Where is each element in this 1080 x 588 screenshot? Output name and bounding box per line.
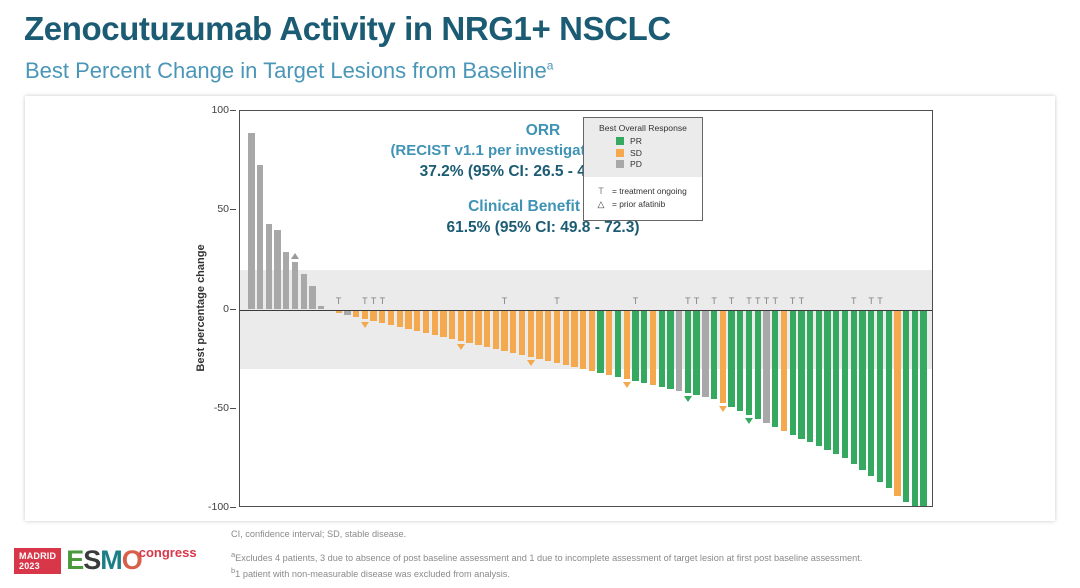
logo-congress-text: congress [139,545,197,560]
logo-letter-e: E [66,547,83,574]
legend-note-label: = prior afatinib [612,199,665,209]
prior-afatinib-marker [745,418,753,424]
waterfall-bar [790,310,796,435]
prior-afatinib-marker [684,396,692,402]
waterfall-bar [397,310,403,328]
waterfall-bar [423,310,429,334]
y-axis-tick: 0 [223,303,229,315]
legend-title: Best Overall Response [590,123,696,133]
waterfall-bar [746,310,752,415]
legend-response-group: Best Overall Response PRSDPD [584,118,702,177]
waterfall-bar [711,310,717,399]
legend-notes: T= treatment ongoing△= prior afatinib [584,177,702,220]
waterfall-bar [763,310,769,423]
legend-swatch [616,160,624,168]
waterfall-bar [728,310,734,407]
waterfall-bar [388,310,394,326]
waterfall-bar [545,310,551,362]
waterfall-bar [528,310,534,358]
legend-item-label: PR [630,136,642,146]
waterfall-bar [484,310,490,348]
waterfall-bar [632,310,638,381]
chart-card: 100500-50-100 Best percentage change TTT… [25,96,1055,521]
footnote-a-text: Excludes 4 patients, 3 due to absence of… [235,553,862,563]
waterfall-bar [851,310,857,465]
waterfall-bar [493,310,499,350]
prior-afatinib-marker [361,322,369,328]
legend-note-label: = treatment ongoing [612,186,687,196]
treatment-ongoing-marker: T [711,297,717,306]
legend-items: PRSDPD [590,136,696,169]
waterfall-bar [868,310,874,477]
waterfall-bar [405,310,411,330]
treatment-ongoing-marker: T [869,297,875,306]
prior-afatinib-marker [457,344,465,350]
waterfall-bar [624,310,630,379]
waterfall-bar [667,310,673,389]
waterfall-bar [519,310,525,356]
waterfall-bar [833,310,839,455]
waterfall-bar [266,224,272,309]
waterfall-bar [894,310,900,497]
waterfall-bar [283,252,289,310]
footnote-b: b1 patient with non-measurable disease w… [231,566,1061,581]
prior-afatinib-marker [527,360,535,366]
waterfall-bar [301,274,307,310]
footnote-abbreviations: CI, confidence interval; SD, stable dise… [231,528,1061,541]
page-title: Zenocutuzumab Activity in NRG1+ NSCLC [24,10,671,48]
waterfall-bar [702,310,708,397]
waterfall-bar [816,310,822,447]
waterfall-bar [685,310,691,393]
treatment-ongoing-marker: T [799,297,805,306]
waterfall-bar [842,310,848,459]
legend-note: △= prior afatinib [590,199,696,210]
legend-item: PR [616,136,696,146]
waterfall-bar [676,310,682,391]
y-axis-tick: 100 [211,104,229,116]
waterfall-bar [554,310,560,364]
waterfall-bar [292,262,298,310]
y-axis-tick: 50 [217,203,229,215]
slide-root: Zenocutuzumab Activity in NRG1+ NSCLC Be… [0,0,1080,588]
legend-swatch [616,149,624,157]
page-subtitle-text: Best Percent Change in Target Lesions fr… [25,58,547,83]
treatment-ongoing-marker: T [851,297,857,306]
prior-afatinib-marker [623,382,631,388]
legend-swatch [616,137,624,145]
page-subtitle: Best Percent Change in Target Lesions fr… [25,58,553,84]
waterfall-bar [571,310,577,368]
esmo-congress-logo: MADRID 2023 ESMO congress [14,547,197,574]
logo-madrid-year: 2023 [19,561,56,571]
treatment-ongoing-marker: T [502,297,508,306]
waterfall-bar [920,310,926,508]
waterfall-bar [309,286,315,310]
waterfall-bar [824,310,830,451]
logo-madrid-badge: MADRID 2023 [14,548,61,574]
waterfall-bar [755,310,761,419]
y-axis-tick: -100 [208,501,229,513]
waterfall-bar [440,310,446,338]
y-axis-tick: -50 [214,402,229,414]
waterfall-bar [274,230,280,309]
treatment-ongoing-marker: T [790,297,796,306]
waterfall-bar [580,310,586,370]
chart-legend: Best Overall Response PRSDPD T= treatmen… [583,117,703,221]
treatment-ongoing-marker: T [755,297,761,306]
waterfall-bar [807,310,813,443]
waterfall-bar [563,310,569,366]
waterfall-bar [414,310,420,332]
legend-item: PD [616,159,696,169]
footnotes: CI, confidence interval; SD, stable dise… [231,528,1061,581]
waterfall-bar [248,133,254,310]
waterfall-bar [772,310,778,427]
waterfall-bar [510,310,516,354]
waterfall-bar [641,310,647,383]
waterfall-bar [606,310,612,376]
treatment-ongoing-marker: T [877,297,883,306]
waterfall-bar [886,310,892,489]
legend-item-label: PD [630,159,642,169]
waterfall-bar [501,310,507,352]
waterfall-bar [458,310,464,342]
waterfall-bar [737,310,743,411]
waterfall-bar [720,310,726,403]
prior-afatinib-marker [719,406,727,412]
prior-afatinib-marker [291,253,299,259]
waterfall-bar [615,310,621,377]
legend-note: T= treatment ongoing [590,186,696,196]
treatment-ongoing-marker: T [336,297,342,306]
treatment-ongoing-marker: T [729,297,735,306]
waterfall-bar [903,310,909,503]
treatment-ongoing-icon: T [590,186,612,196]
treatment-ongoing-marker: T [371,297,377,306]
waterfall-bar [693,310,699,395]
treatment-ongoing-marker: T [746,297,752,306]
legend-item: SD [616,148,696,158]
waterfall-bar [475,310,481,346]
waterfall-bar [257,165,263,310]
y-axis-label: Best percentage change [195,244,207,371]
waterfall-bar [597,310,603,374]
waterfall-bar [536,310,542,360]
page-subtitle-footnote-marker: a [547,59,554,73]
waterfall-bar [912,310,918,508]
legend-item-label: SD [630,148,642,158]
logo-esmo-wordmark: ESMO [66,547,142,574]
treatment-ongoing-marker: T [380,297,386,306]
waterfall-bar [659,310,665,387]
waterfall-bar [589,310,595,372]
treatment-ongoing-marker: T [362,297,368,306]
treatment-ongoing-marker: T [633,297,639,306]
treatment-ongoing-marker: T [772,297,778,306]
waterfall-bar [379,310,385,324]
waterfall-bar [370,310,376,322]
waterfall-bar [449,310,455,340]
waterfall-bar [877,310,883,483]
logo-madrid-city: MADRID [19,551,56,561]
logo-letter-s: S [83,547,100,574]
waterfall-bar [432,310,438,336]
treatment-ongoing-marker: T [554,297,560,306]
zero-line [240,310,932,312]
waterfall-bar [859,310,865,471]
waterfall-bar [781,310,787,431]
treatment-ongoing-marker: T [694,297,700,306]
logo-letter-m: M [100,547,122,574]
prior-afatinib-icon: △ [590,199,612,210]
waterfall-bar [650,310,656,385]
treatment-ongoing-marker: T [685,297,691,306]
footnote-a: aExcludes 4 patients, 3 due to absence o… [231,550,1061,565]
waterfall-bar [798,310,804,439]
waterfall-bar [466,310,472,344]
treatment-ongoing-marker: T [764,297,770,306]
footnote-b-text: 1 patient with non-measurable disease wa… [235,569,510,579]
